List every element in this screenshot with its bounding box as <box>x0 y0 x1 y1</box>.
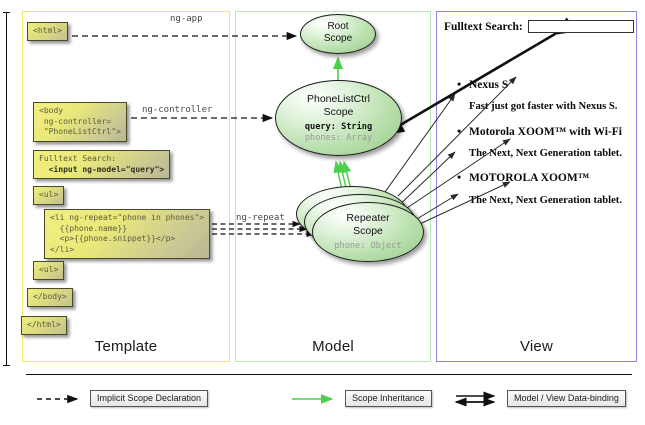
green-arrow-icon <box>290 391 340 407</box>
edge-label-ng-controller: ng-controller <box>142 105 212 115</box>
code-box-search-line2: <input ng-model="query"> <box>39 165 164 174</box>
legend-item-scope-inheritance: Scope Inheritance <box>290 390 432 407</box>
code-box-search-line1: Fulltext Search: <box>39 154 116 163</box>
dashed-arrow-icon <box>35 391 85 407</box>
left-guide-top-tick <box>3 12 10 13</box>
double-arrow-icon <box>452 391 502 407</box>
legend-label-implicit-scope-declaration: Implicit Scope Declaration <box>90 390 208 407</box>
list-item[interactable]: Motorola XOOM™ with Wi-Fi The Next, Next… <box>455 125 630 161</box>
edge-label-ng-repeat: ng-repeat <box>236 213 285 223</box>
scope-root-line2: Scope <box>301 33 375 45</box>
legend-divider <box>26 374 632 375</box>
legend-label-scope-inheritance: Scope Inheritance <box>345 390 432 407</box>
scope-phonelistctrl[interactable]: PhoneListCtrl Scope query: String phones… <box>275 80 402 156</box>
view-search-row: Fulltext Search: <box>444 20 634 33</box>
code-box-ul-close[interactable]: <ul> <box>33 261 64 280</box>
panel-template-title: Template <box>23 338 229 355</box>
scope-root[interactable]: Root Scope <box>300 14 376 54</box>
list-item[interactable]: MOTOROLA XOOM™ The Next, Next Generation… <box>455 171 630 207</box>
scope-root-line1: Root <box>301 21 375 33</box>
list-item-snippet: The Next, Next Generation tablet. <box>455 147 630 160</box>
code-box-html-open[interactable]: <html> <box>27 22 68 41</box>
list-item-name: MOTOROLA XOOM™ <box>455 171 630 185</box>
legend-item-model-view-data-binding: Model / View Data-binding <box>452 390 626 407</box>
code-box-body-open[interactable]: <body ng-controller= "PhoneListCtrl"> <box>33 102 127 142</box>
scope-prop-phone: phone: Object <box>313 241 423 252</box>
code-box-search-input[interactable]: Fulltext Search: <input ng-model="query"… <box>33 150 170 179</box>
scope-phonelistctrl-props: query: String phones: Array <box>276 122 401 144</box>
scope-prop-phones: phones: Array <box>276 133 401 144</box>
view-phone-list: Nexus S Fast just got faster with Nexus … <box>455 78 630 218</box>
code-box-li-repeat[interactable]: <li ng-repeat="phone in phones"> {{phone… <box>44 209 210 259</box>
list-item-name: Nexus S <box>455 78 630 92</box>
panel-view-title: View <box>437 338 636 355</box>
legend-label-model-view-data-binding: Model / View Data-binding <box>507 390 626 407</box>
scope-phonelistctrl-line2: Scope <box>276 106 401 119</box>
list-item-snippet: The Next, Next Generation tablet. <box>455 194 630 207</box>
list-item-name: Motorola XOOM™ with Wi-Fi <box>455 125 630 139</box>
view-search-label: Fulltext Search: <box>444 21 523 33</box>
legend: Implicit Scope Declaration Scope Inherit… <box>0 366 645 425</box>
code-box-html-close[interactable]: </html> <box>21 316 67 335</box>
list-item[interactable]: Nexus S Fast just got faster with Nexus … <box>455 78 630 114</box>
edge-label-ng-app: ng-app <box>170 14 203 24</box>
scope-repeater[interactable]: Repeater Scope phone: Object <box>312 202 424 262</box>
diagram-canvas: Template Model View <box>0 0 645 425</box>
view-search-input[interactable] <box>528 20 634 33</box>
code-box-ul-open[interactable]: <ul> <box>33 186 64 205</box>
panel-model-title: Model <box>236 338 430 355</box>
code-box-body-close[interactable]: </body> <box>27 288 73 307</box>
list-item-snippet: Fast just got faster with Nexus S. <box>455 100 630 113</box>
scope-repeater-line2: Scope <box>313 225 423 238</box>
left-guide-line <box>6 13 7 366</box>
scope-repeater-props: phone: Object <box>313 241 423 252</box>
scope-phonelistctrl-line1: PhoneListCtrl <box>276 93 401 106</box>
scope-prop-query: query: String <box>276 122 401 133</box>
legend-item-implicit-scope-declaration: Implicit Scope Declaration <box>35 390 208 407</box>
scope-repeater-line1: Repeater <box>313 212 423 225</box>
